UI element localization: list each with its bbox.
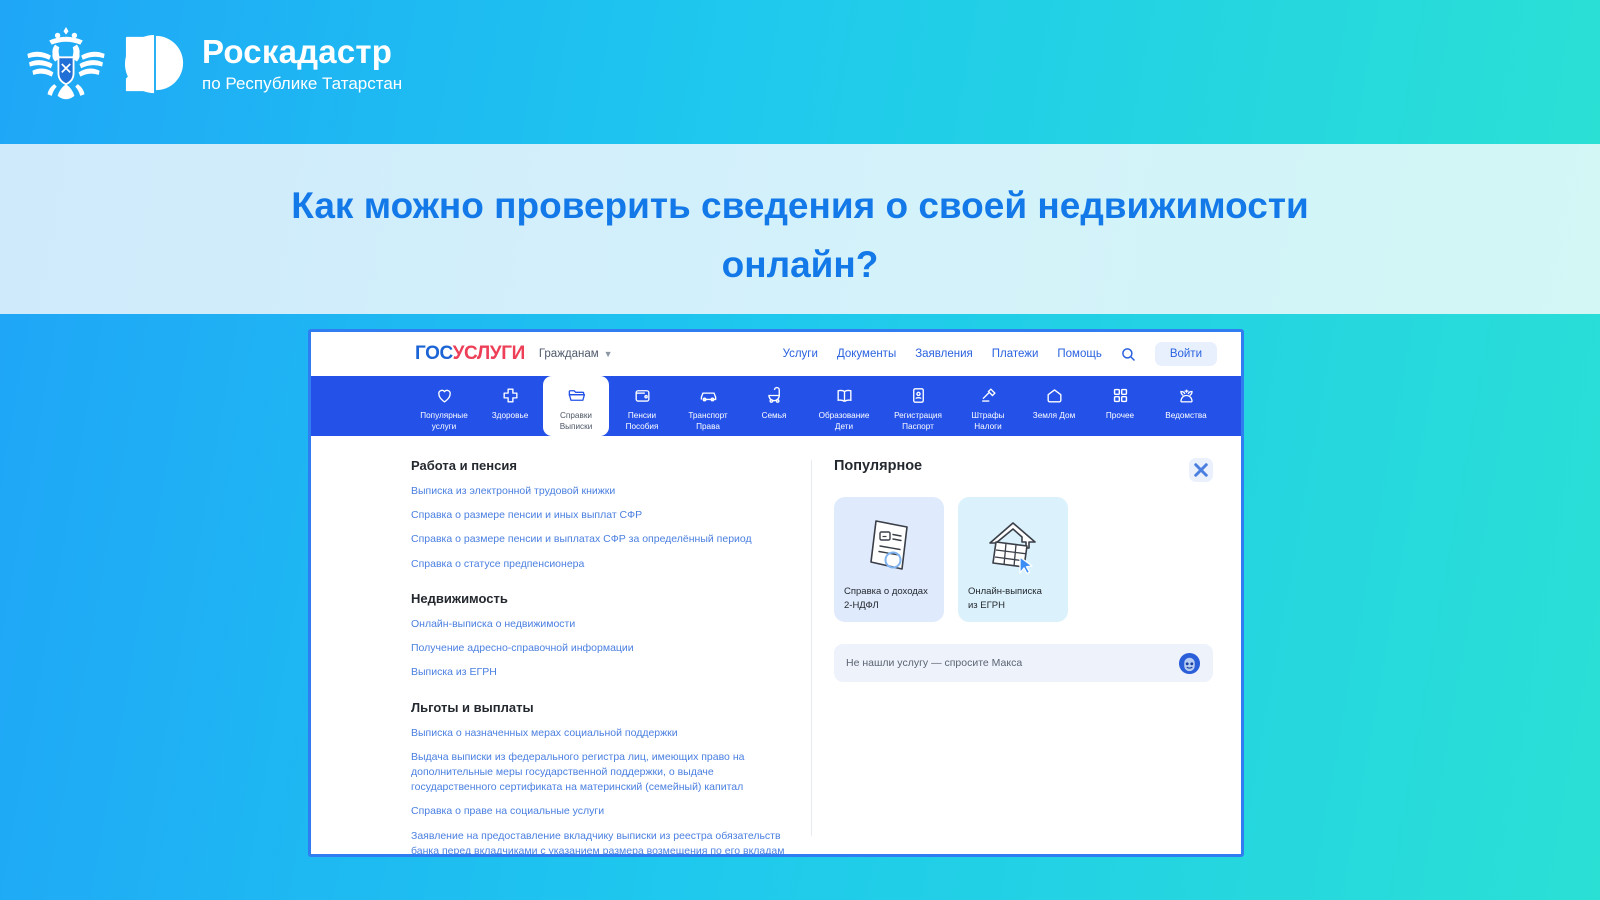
login-button[interactable]: Войти [1155, 342, 1217, 366]
slide-title: Как можно проверить сведения о своей нед… [290, 176, 1310, 294]
grid-icon [1087, 385, 1153, 405]
section-heading-realestate: Недвижимость [411, 591, 785, 606]
category-label-2: услуги [432, 422, 457, 431]
category-label-2: Выписки [560, 422, 593, 431]
section-heading-benefits: Льготы и выплаты [411, 700, 785, 715]
topbar-nav: Услуги Документы Заявления Платежи Помощ… [783, 342, 1217, 366]
stroller-icon [741, 385, 807, 405]
card-caption-line2: из ЕГРН [968, 600, 1005, 611]
brand-block: Роскадастр по Республике Татарстан [24, 22, 402, 106]
category-label: Популярные [420, 411, 468, 420]
government-icon [1153, 385, 1219, 405]
category-label-2: Налоги [974, 422, 1001, 431]
service-link[interactable]: Заявление на предоставление вкладчику вы… [411, 829, 785, 857]
category-agencies[interactable]: Ведомства [1153, 376, 1219, 421]
nav-item-uslugi[interactable]: Услуги [783, 348, 818, 360]
category-label: Штрафы [972, 411, 1005, 420]
gosuslugi-topbar: ГОСУСЛУГИ Гражданам ▼ Услуги Документы З… [311, 332, 1241, 376]
category-label: Пенсии [628, 411, 656, 420]
brand-name: Роскадастр [202, 35, 402, 70]
browser-content: Работа и пенсия Выписка из электронной т… [311, 436, 1241, 857]
search-icon[interactable] [1121, 347, 1136, 362]
popular-panel: Популярное [812, 436, 1241, 857]
service-link[interactable]: Выписка о назначенных мерах социальной п… [411, 726, 785, 741]
category-family[interactable]: Семья [741, 376, 807, 421]
category-label-2: Пособия [626, 422, 659, 431]
category-label: Прочее [1106, 411, 1134, 420]
category-popular-services[interactable]: Популярныеуслуги [411, 376, 477, 432]
nav-item-pomoshch[interactable]: Помощь [1057, 348, 1101, 360]
service-link[interactable]: Получение адресно-справочной информации [411, 641, 785, 656]
browser-window: ГОСУСЛУГИ Гражданам ▼ Услуги Документы З… [308, 329, 1244, 857]
wallet-icon [609, 385, 675, 405]
category-nav: Популярныеуслуги Здоровье СправкиВыписки… [311, 376, 1241, 436]
category-registration-passport[interactable]: РегистрацияПаспорт [881, 376, 955, 432]
gavel-icon [955, 385, 1021, 405]
logo-text-gos: ГОС [415, 343, 453, 364]
popular-header: Популярное [834, 458, 1213, 482]
service-link[interactable]: Выписка из электронной трудовой книжки [411, 484, 785, 499]
id-card-icon [881, 385, 955, 405]
close-icon [1189, 458, 1213, 482]
card-caption-line1: Справка о доходах [844, 586, 928, 597]
card-income-certificate[interactable]: Справка о доходах 2-НДФЛ [834, 497, 944, 622]
home-icon [1021, 385, 1087, 405]
category-label: Транспорт [688, 411, 727, 420]
heart-icon [411, 385, 477, 405]
car-icon [675, 385, 741, 405]
category-pensions-benefits[interactable]: ПенсииПособия [609, 376, 675, 432]
category-label-2: Паспорт [902, 422, 934, 431]
card-caption-line2: 2-НДФЛ [844, 600, 879, 611]
service-link[interactable]: Справка о размере пенсии и выплатах СФР … [411, 532, 785, 547]
category-fines-taxes[interactable]: ШтрафыНалоги [955, 376, 1021, 432]
category-label: Земля Дом [1033, 411, 1075, 420]
section-heading-work-pension: Работа и пенсия [411, 458, 785, 473]
nav-item-zayavleniya[interactable]: Заявления [915, 348, 973, 360]
audience-selector[interactable]: Гражданам ▼ [539, 348, 613, 360]
service-link[interactable]: Выписка из ЕГРН [411, 665, 785, 680]
category-label: Ведомства [1165, 411, 1206, 420]
logo-text-uslugi: УСЛУГИ [453, 343, 525, 364]
chevron-down-icon: ▼ [604, 349, 613, 359]
double-headed-eagle-icon [24, 22, 108, 106]
folder-icon [543, 385, 609, 405]
category-land-home[interactable]: Земля Дом [1021, 376, 1087, 421]
house-document-icon [968, 507, 1058, 585]
category-label: Семья [762, 411, 787, 420]
nav-item-documenty[interactable]: Документы [837, 348, 896, 360]
card-egrn-online-extract[interactable]: Онлайн-выписка из ЕГРН [958, 497, 1068, 622]
popular-title: Популярное [834, 458, 922, 474]
category-other[interactable]: Прочее [1087, 376, 1153, 421]
robot-assistant-icon[interactable] [1178, 652, 1201, 675]
close-button[interactable] [1189, 458, 1213, 482]
category-label: Регистрация [894, 411, 942, 420]
card-caption-line1: Онлайн-выписка [968, 586, 1042, 597]
service-link[interactable]: Выдача выписки из федерального регистра … [411, 750, 785, 796]
service-link[interactable]: Онлайн-выписка о недвижимости [411, 617, 785, 632]
service-link[interactable]: Справка о размере пенсии и иных выплат С… [411, 508, 785, 523]
category-transport-license[interactable]: ТранспортПрава [675, 376, 741, 432]
category-label: Справки [560, 411, 592, 420]
brand-subtitle: по Республике Татарстан [202, 75, 402, 93]
medical-cross-icon [477, 385, 543, 405]
service-link[interactable]: Справка о статусе предпенсионера [411, 557, 785, 572]
ask-max-text: Не нашли услугу — спросите Макса [846, 657, 1022, 669]
nav-item-platezhi[interactable]: Платежи [992, 348, 1039, 360]
category-health[interactable]: Здоровье [477, 376, 543, 421]
document-certificate-icon [844, 507, 934, 585]
service-link[interactable]: Справка о праве на социальные услуги [411, 804, 785, 819]
category-label-2: Дети [835, 422, 853, 431]
audience-label: Гражданам [539, 348, 599, 360]
category-label: Здоровье [492, 411, 529, 420]
ask-max-bar[interactable]: Не нашли услугу — спросите Макса [834, 644, 1213, 682]
roskadastr-circle-house-icon [124, 33, 186, 95]
category-spravki-vypiski[interactable]: СправкиВыписки [543, 376, 609, 436]
category-label-2: Права [696, 422, 720, 431]
book-icon [807, 385, 881, 405]
category-label: Образование [819, 411, 870, 420]
category-education-children[interactable]: ОбразованиеДети [807, 376, 881, 432]
popular-cards: Справка о доходах 2-НДФЛ Он [834, 497, 1213, 622]
gosuslugi-logo[interactable]: ГОСУСЛУГИ [415, 343, 525, 365]
services-list-column: Работа и пенсия Выписка из электронной т… [311, 436, 811, 857]
